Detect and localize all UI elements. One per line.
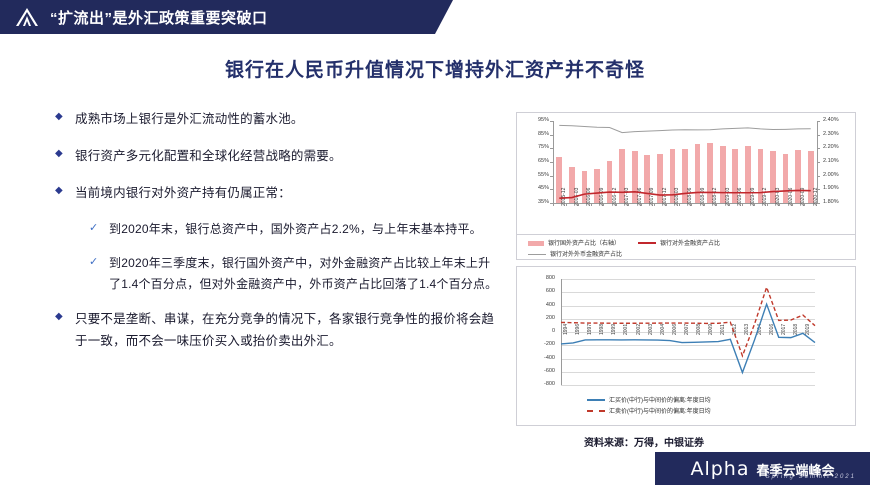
list-item: ◆ 成熟市场上银行是外汇流动性的蓄水池。	[55, 108, 500, 130]
list-item-label: 成熟市场上银行是外汇流动性的蓄水池。	[75, 108, 500, 130]
legend-row: 汇买价(中行)与中间价的偏离:年度日均	[587, 395, 711, 404]
legend-swatch-red-line	[638, 242, 656, 244]
y-axis-tick-label: -800	[525, 381, 555, 387]
y-axis-tick-label: -400	[525, 355, 555, 361]
page-title: 银行在人民币升值情况下增持外汇资产并不奇怪	[0, 55, 870, 82]
footer-subtitle: Spring Summit 2021	[766, 474, 856, 480]
x-axis-tick-label: 1997	[587, 324, 593, 335]
x-axis-tick-mark	[603, 203, 604, 206]
legend-swatch-dashed-line	[587, 410, 605, 412]
x-axis-tick-label: 2018	[793, 324, 799, 335]
y2-axis-tick-label: 2.20%	[823, 144, 839, 150]
x-axis-tick-mark	[654, 203, 655, 206]
x-axis-tick-mark	[779, 203, 780, 206]
legend-row-1: 银行国外资产占比（右轴）银行对外金融资产占比	[528, 238, 856, 247]
x-axis-tick-mark	[628, 203, 629, 206]
chart-fx-spread-deviation: -800-600-400-200020040060080019941996199…	[516, 266, 856, 426]
x-axis-tick-mark	[591, 203, 592, 206]
x-axis-tick-mark	[767, 203, 768, 206]
x-axis-tick-mark	[578, 203, 579, 206]
y-axis-tick-label: 600	[525, 288, 555, 294]
triangle-peak-logo-icon	[14, 6, 40, 28]
y-axis-tick-label: 800	[525, 275, 555, 281]
x-axis-tick-mark	[704, 203, 705, 206]
x-axis-tick-label: 1994	[563, 324, 569, 335]
list-item: ◆ 当前境内银行对外资产持有仍属正常：	[55, 182, 500, 204]
y-axis-tick-label: 0	[525, 328, 555, 334]
list-item: ✓ 到2020年末，银行总资产中，国外资产占2.2%，与上年末基本持平。	[89, 219, 500, 240]
list-item: ◆ 银行资产多元化配置和全球化经营战略的需要。	[55, 145, 500, 167]
grid-line	[561, 345, 815, 346]
x-axis-tick-label: 2013	[744, 324, 750, 335]
x-axis-tick-mark	[641, 203, 642, 206]
check-bullet-icon: ✓	[89, 253, 109, 271]
diamond-bullet-icon: ◆	[55, 308, 75, 326]
y2-axis-tick-label: 2.40%	[823, 117, 839, 123]
x-axis-tick-label: 2016	[769, 324, 775, 335]
check-bullet-icon: ✓	[89, 219, 109, 237]
x-axis-tick-mark	[716, 203, 717, 206]
legend-label: 银行对外金融资产占比	[660, 241, 720, 247]
legend-label: 汇卖价(中行)与中间价的偏离:年度日均	[609, 409, 711, 415]
x-axis-tick-label: 2009	[708, 324, 714, 335]
slide-root: “扩流出”是外汇政策重要突破口 银行在人民币升值情况下增持外汇资产并不奇怪 ◆ …	[0, 0, 870, 485]
grid-line	[561, 279, 815, 280]
x-axis-tick-mark	[566, 203, 567, 206]
list-item: ✓ 到2020年三季度末，银行国外资产中，对外金融资产占比较上年末上升了1.4个…	[89, 253, 500, 295]
x-axis-tick-mark	[792, 203, 793, 206]
x-axis-tick-mark	[804, 203, 805, 206]
grid-line	[561, 372, 815, 373]
diamond-bullet-icon: ◆	[55, 145, 75, 163]
header-title: “扩流出”是外汇政策重要突破口	[50, 7, 268, 28]
list-item-label: 当前境内银行对外资产持有仍属正常：	[75, 182, 500, 204]
x-axis-tick-label: 2006	[672, 324, 678, 335]
x-axis-tick-mark	[754, 203, 755, 206]
x-axis-tick-mark	[691, 203, 692, 206]
y-axis-tick-label: 200	[525, 315, 555, 321]
y-axis-tick-label: 85%	[519, 131, 549, 137]
x-axis-tick-label: 2017	[781, 324, 787, 335]
y-axis-line	[561, 279, 562, 385]
diamond-bullet-icon: ◆	[55, 108, 75, 126]
y-axis-tick-label: 55%	[519, 172, 549, 178]
legend-swatch-solid-line	[587, 399, 605, 401]
x-axis-tick-label: 1998	[599, 324, 605, 335]
y2-axis-tick-label: 2.10%	[823, 158, 839, 164]
x-axis-tick-label: 2020-12	[813, 188, 819, 206]
grid-line	[561, 292, 815, 293]
x-axis-tick-mark	[616, 203, 617, 206]
x-axis-tick-label: 2001	[623, 324, 629, 335]
legend-label: 汇买价(中行)与中间价的偏离:年度日均	[609, 398, 711, 404]
legend-label: 银行国外资产占比（右轴）	[548, 241, 620, 247]
legend-swatch-bar	[528, 241, 544, 246]
y-axis-tick-label: 35%	[519, 199, 549, 205]
x-axis-tick-label: 1996	[575, 324, 581, 335]
x-axis-tick-mark	[679, 203, 680, 206]
legend-label: 银行对外外币金融资产占比	[550, 252, 622, 258]
x-axis-tick-label: 2003	[648, 324, 654, 335]
x-axis-tick-label: 2019	[805, 324, 811, 335]
grid-line	[561, 385, 815, 386]
y-axis-tick-label: -600	[525, 368, 555, 374]
x-axis-tick-label: 2008	[696, 324, 702, 335]
y-axis-tick-label: 75%	[519, 144, 549, 150]
header-banner-tail	[435, 0, 453, 34]
x-axis-tick-label: 2007	[684, 324, 690, 335]
bullet-list: ◆ 成熟市场上银行是外汇流动性的蓄水池。 ◆ 银行资产多元化配置和全球化经营战略…	[55, 108, 500, 367]
grid-line	[561, 319, 815, 320]
y2-axis-tick-label: 1.90%	[823, 185, 839, 191]
footer-brand: Alpha	[690, 458, 749, 480]
y-axis-tick-label: 95%	[519, 117, 549, 123]
chart2-legend: 汇买价(中行)与中间价的偏离:年度日均汇卖价(中行)与中间价的偏离:年度日均	[587, 395, 711, 417]
x-axis-tick-label: 2002	[636, 324, 642, 335]
legend-row-2: 银行对外外币金融资产占比	[528, 249, 856, 258]
chart-bank-foreign-assets-legend: 银行国外资产占比（右轴）银行对外金融资产占比 银行对外外币金融资产占比	[516, 234, 856, 260]
source-note: 资料来源：万得，中银证券	[584, 434, 704, 449]
x-axis-tick-label: 2012	[732, 324, 738, 335]
y-axis-tick-label: 400	[525, 302, 555, 308]
footer-brand-bar: Alpha 春季云端峰会 Spring Summit 2021	[655, 452, 870, 485]
y2-axis-tick-label: 2.00%	[823, 172, 839, 178]
x-axis-tick-mark	[742, 203, 743, 206]
grid-line	[561, 359, 815, 360]
y-axis-line	[553, 121, 554, 203]
x-axis-tick-label: 1999	[611, 324, 617, 335]
grid-line	[561, 306, 815, 307]
list-item-label: 到2020年末，银行总资产中，国外资产占2.2%，与上年末基本持平。	[109, 219, 500, 240]
y-axis-tick-label: 45%	[519, 185, 549, 191]
y-axis-tick-label: 65%	[519, 158, 549, 164]
list-item-label: 只要不是垄断、串谋，在充分竞争的情况下，各家银行竞争性的报价将会趋于一致，而不会…	[75, 308, 500, 352]
list-item-label: 到2020年三季度末，银行国外资产中，对外金融资产占比较上年末上升了1.4个百分…	[109, 253, 500, 295]
x-axis-tick-label: 2004	[660, 324, 666, 335]
header-banner: “扩流出”是外汇政策重要突破口	[0, 0, 435, 34]
list-item-label: 银行资产多元化配置和全球化经营战略的需要。	[75, 145, 500, 167]
diamond-bullet-icon: ◆	[55, 182, 75, 200]
y2-axis-tick-label: 1.80%	[823, 199, 839, 205]
x-axis-tick-label: 2014	[757, 324, 763, 335]
x-axis-tick-mark	[666, 203, 667, 206]
y-axis-tick-label: -200	[525, 341, 555, 347]
list-item: ◆ 只要不是垄断、串谋，在充分竞争的情况下，各家银行竞争性的报价将会趋于一致，而…	[55, 308, 500, 352]
legend-swatch-gray-line	[528, 254, 546, 255]
legend-row: 汇卖价(中行)与中间价的偏离:年度日均	[587, 406, 711, 415]
y2-axis-tick-label: 2.30%	[823, 131, 839, 137]
x-axis-tick-label: 2011	[720, 324, 726, 335]
x-axis-tick-mark	[729, 203, 730, 206]
x-axis-tick-mark	[553, 203, 554, 206]
